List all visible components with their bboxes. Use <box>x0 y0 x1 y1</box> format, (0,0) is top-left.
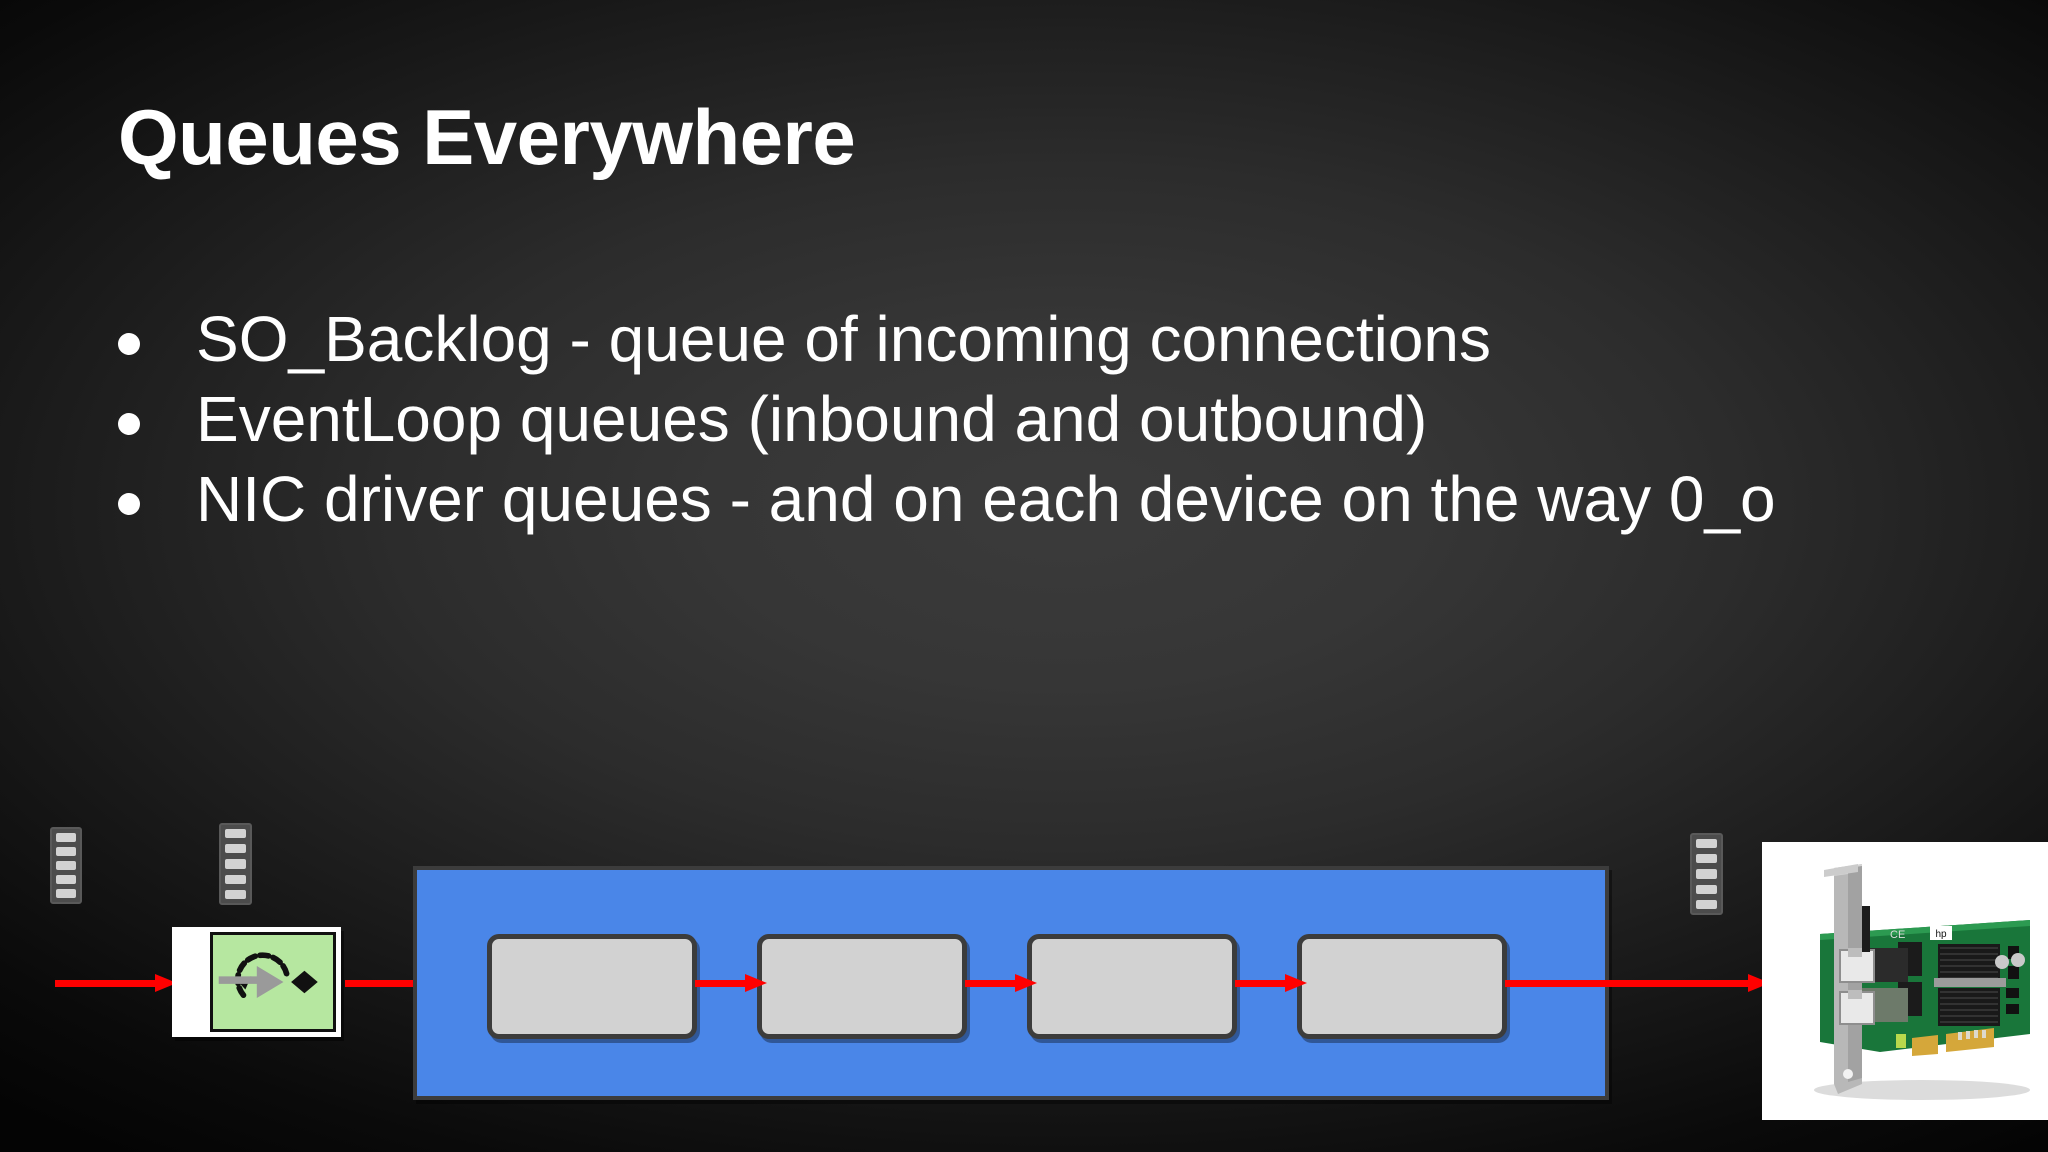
rack-slot <box>56 833 76 841</box>
bullet-text: SO_Backlog - queue of incoming connectio… <box>196 300 1948 378</box>
arrow-shaft <box>1235 980 1285 987</box>
arrow-in-icon <box>55 974 177 992</box>
arrow-shaft <box>55 980 155 987</box>
list-item: EventLoop queues (inbound and outbound) <box>118 380 1948 458</box>
event-loop-icon <box>213 935 333 1029</box>
bullet-dot-icon <box>118 333 140 355</box>
arrow-head <box>1015 974 1037 992</box>
nic-card-image: hp CE <box>1762 842 2048 1120</box>
rack-slot <box>225 890 246 899</box>
svg-text:CE: CE <box>1890 929 1905 941</box>
rack-slot <box>225 875 246 884</box>
rack-slot <box>56 861 76 869</box>
arrow-handler-3-icon <box>1235 974 1307 992</box>
rack-slot <box>1696 854 1717 863</box>
pipeline-handler <box>1027 934 1237 1039</box>
arrow-handler-1-icon <box>695 974 767 992</box>
bullet-dot-icon <box>118 493 140 515</box>
arrow-head <box>745 974 767 992</box>
rack-slot <box>56 889 76 897</box>
list-item: SO_Backlog - queue of incoming connectio… <box>118 300 1948 378</box>
svg-text:hp: hp <box>1935 929 1947 940</box>
bullet-text: NIC driver queues - and on each device o… <box>196 460 1948 538</box>
list-item: NIC driver queues - and on each device o… <box>118 460 1948 538</box>
rack-slot <box>1696 900 1717 909</box>
page-title: Queues Everywhere <box>118 98 855 176</box>
rack-slot <box>1696 885 1717 894</box>
server-rack-icon <box>219 823 252 905</box>
arrow-shaft <box>965 980 1015 987</box>
slide-canvas: Queues Everywhere SO_Backlog - queue of … <box>0 0 2048 1152</box>
pipeline-handler <box>487 934 697 1039</box>
rack-slot <box>1696 869 1717 878</box>
rack-slot <box>56 875 76 883</box>
bullet-list: SO_Backlog - queue of incoming connectio… <box>118 300 1948 540</box>
bullet-dot-icon <box>118 413 140 435</box>
rack-slot <box>225 829 246 838</box>
rack-slot <box>225 859 246 868</box>
arrow-out-icon <box>1505 974 1770 992</box>
arrow-shaft <box>695 980 745 987</box>
pipeline-handler <box>757 934 967 1039</box>
rack-slot <box>1696 839 1717 848</box>
nic-card-illustration: hp CE <box>1762 842 2048 1120</box>
rack-slot <box>225 844 246 853</box>
arrow-handler-2-icon <box>965 974 1037 992</box>
pipeline-handler <box>1297 934 1507 1039</box>
arrow-shaft <box>1505 980 1748 987</box>
bullet-text: EventLoop queues (inbound and outbound) <box>196 380 1948 458</box>
server-rack-icon <box>50 827 82 904</box>
event-loop-node <box>172 927 341 1037</box>
event-loop-panel <box>210 932 336 1032</box>
rack-slot <box>56 847 76 855</box>
server-rack-icon <box>1690 833 1723 915</box>
arrow-head <box>1285 974 1307 992</box>
